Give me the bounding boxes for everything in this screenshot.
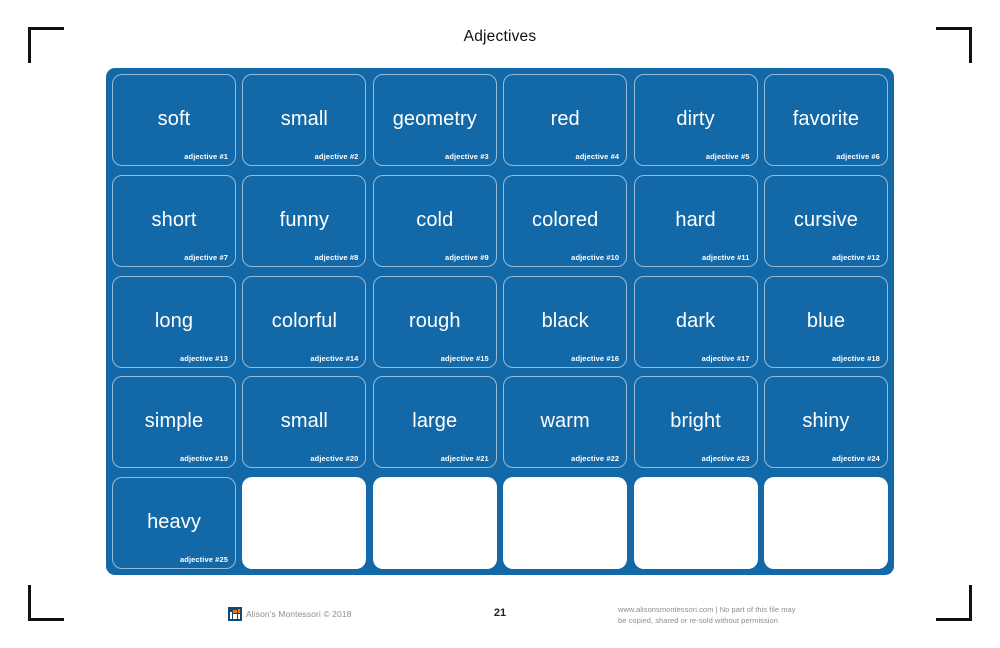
card-word: colored	[504, 209, 626, 232]
card-word: blue	[765, 310, 887, 333]
card-word: soft	[113, 108, 235, 131]
word-card[interactable]: favoriteadjective #6	[764, 74, 888, 166]
card-index-label: adjective #5	[706, 152, 750, 161]
page-footer: Alison's Montessori © 2018 21 www.alison…	[0, 602, 1000, 642]
card-index-label: adjective #22	[571, 454, 619, 463]
card-index-label: adjective #16	[571, 354, 619, 363]
footer-rights: www.alisonsmontessori.com | No part of t…	[618, 605, 796, 627]
card-row: simpleadjective #19smalladjective #20lar…	[112, 376, 888, 468]
card-word: rough	[374, 310, 496, 333]
word-card[interactable]: longadjective #13	[112, 276, 236, 368]
card-word: bright	[635, 410, 757, 433]
word-card[interactable]: roughadjective #15	[373, 276, 497, 368]
card-index-label: adjective #9	[445, 253, 489, 262]
word-card[interactable]: softadjective #1	[112, 74, 236, 166]
word-card[interactable]: shortadjective #7	[112, 175, 236, 267]
card-index-label: adjective #7	[184, 253, 228, 262]
footer-rights-line-1: www.alisonsmontessori.com | No part of t…	[618, 605, 796, 616]
card-index-label: adjective #11	[702, 253, 750, 262]
word-card[interactable]: coloredadjective #10	[503, 175, 627, 267]
word-card[interactable]: cursiveadjective #12	[764, 175, 888, 267]
card-index-label: adjective #25	[180, 555, 228, 564]
card-row: shortadjective #7funnyadjective #8coldad…	[112, 175, 888, 267]
card-word: red	[504, 108, 626, 131]
blank-card[interactable]	[242, 477, 366, 569]
card-word: cold	[374, 209, 496, 232]
card-word: funny	[243, 209, 365, 232]
word-card[interactable]: coldadjective #9	[373, 175, 497, 267]
card-word: warm	[504, 410, 626, 433]
word-card[interactable]: blackadjective #16	[503, 276, 627, 368]
word-card[interactable]: hardadjective #11	[634, 175, 758, 267]
card-word: favorite	[765, 108, 887, 131]
word-card[interactable]: funnyadjective #8	[242, 175, 366, 267]
card-word: dark	[635, 310, 757, 333]
blank-card[interactable]	[503, 477, 627, 569]
card-word: long	[113, 310, 235, 333]
card-index-label: adjective #12	[832, 253, 880, 262]
word-card[interactable]: warmadjective #22	[503, 376, 627, 468]
card-word: large	[374, 410, 496, 433]
card-index-label: adjective #8	[315, 253, 359, 262]
card-grid-panel: softadjective #1smalladjective #2geometr…	[106, 68, 894, 575]
page-number: 21	[0, 607, 1000, 619]
card-index-label: adjective #24	[832, 454, 880, 463]
card-row: softadjective #1smalladjective #2geometr…	[112, 74, 888, 166]
card-index-label: adjective #14	[310, 354, 358, 363]
card-index-label: adjective #15	[441, 354, 489, 363]
card-index-label: adjective #19	[180, 454, 228, 463]
card-word: hard	[635, 209, 757, 232]
card-index-label: adjective #4	[575, 152, 619, 161]
blank-card[interactable]	[373, 477, 497, 569]
card-word: small	[243, 108, 365, 131]
card-word: black	[504, 310, 626, 333]
word-card[interactable]: smalladjective #20	[242, 376, 366, 468]
word-card[interactable]: shinyadjective #24	[764, 376, 888, 468]
word-card[interactable]: largeadjective #21	[373, 376, 497, 468]
card-index-label: adjective #1	[184, 152, 228, 161]
card-word: geometry	[374, 108, 496, 131]
word-card[interactable]: geometryadjective #3	[373, 74, 497, 166]
word-card[interactable]: brightadjective #23	[634, 376, 758, 468]
card-index-label: adjective #6	[836, 152, 880, 161]
word-card[interactable]: darkadjective #17	[634, 276, 758, 368]
card-index-label: adjective #2	[315, 152, 359, 161]
card-word: short	[113, 209, 235, 232]
card-index-label: adjective #18	[832, 354, 880, 363]
card-word: cursive	[765, 209, 887, 232]
card-index-label: adjective #21	[441, 454, 489, 463]
card-word: colorful	[243, 310, 365, 333]
card-index-label: adjective #23	[702, 454, 750, 463]
card-index-label: adjective #10	[571, 253, 619, 262]
word-card[interactable]: dirtyadjective #5	[634, 74, 758, 166]
blank-card[interactable]	[764, 477, 888, 569]
card-row: longadjective #13colorfuladjective #14ro…	[112, 276, 888, 368]
word-card[interactable]: smalladjective #2	[242, 74, 366, 166]
blank-card[interactable]	[634, 477, 758, 569]
card-index-label: adjective #3	[445, 152, 489, 161]
card-index-label: adjective #20	[310, 454, 358, 463]
card-word: heavy	[113, 511, 235, 534]
word-card[interactable]: blueadjective #18	[764, 276, 888, 368]
footer-rights-line-2: be copied, shared or re-sold without per…	[618, 616, 796, 627]
card-word: dirty	[635, 108, 757, 131]
card-word: shiny	[765, 410, 887, 433]
word-card[interactable]: heavyadjective #25	[112, 477, 236, 569]
page-title: Adjectives	[0, 28, 1000, 46]
word-card[interactable]: colorfuladjective #14	[242, 276, 366, 368]
word-card[interactable]: redadjective #4	[503, 74, 627, 166]
word-card[interactable]: simpleadjective #19	[112, 376, 236, 468]
card-index-label: adjective #13	[180, 354, 228, 363]
card-index-label: adjective #17	[702, 354, 750, 363]
card-row: heavyadjective #25	[112, 477, 888, 569]
card-word: simple	[113, 410, 235, 433]
card-word: small	[243, 410, 365, 433]
